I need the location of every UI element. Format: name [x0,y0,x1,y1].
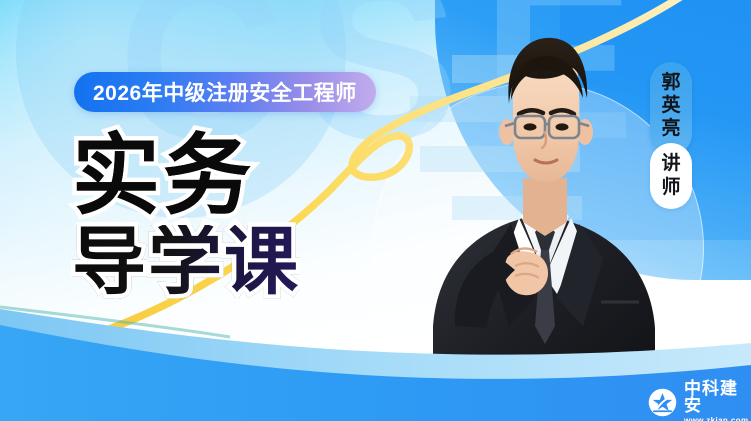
title-line-1-fill: 实务 [72,132,254,219]
instructor-role-pill: 讲 师 [650,143,692,209]
title-line-1: 实务 实务 [72,132,300,219]
instructor-name-char-3: 亮 [661,117,680,140]
instructor-role-char-1: 讲 [661,152,680,175]
instructor-name-badge: 郭 英 亮 讲 师 [650,62,692,209]
zkjan-star-logo-icon [648,388,677,417]
page-title: 实务 实务 导学课 导学课 [72,132,300,299]
instructor-name-char-2: 英 [661,94,680,117]
brand-name: 中科建安 [684,380,751,414]
course-poster: CSE [0,0,751,421]
instructor-name-char-1: 郭 [661,71,680,94]
brand-logo[interactable]: 中科建安 www.zkjan.com [648,380,751,421]
title-line-2: 导学课 导学课 [72,225,300,299]
instructor-role-char-2: 师 [661,176,680,199]
brand-url: www.zkjan.com [684,417,751,421]
instructor-name-pill: 郭 英 亮 [650,62,692,155]
course-badge-label: 2026年中级注册安全工程师 [93,77,357,107]
brand-logo-text: 中科建安 www.zkjan.com [684,380,751,421]
course-badge: 2026年中级注册安全工程师 [74,72,376,112]
title-line-2-fill: 导学课 [72,225,300,299]
